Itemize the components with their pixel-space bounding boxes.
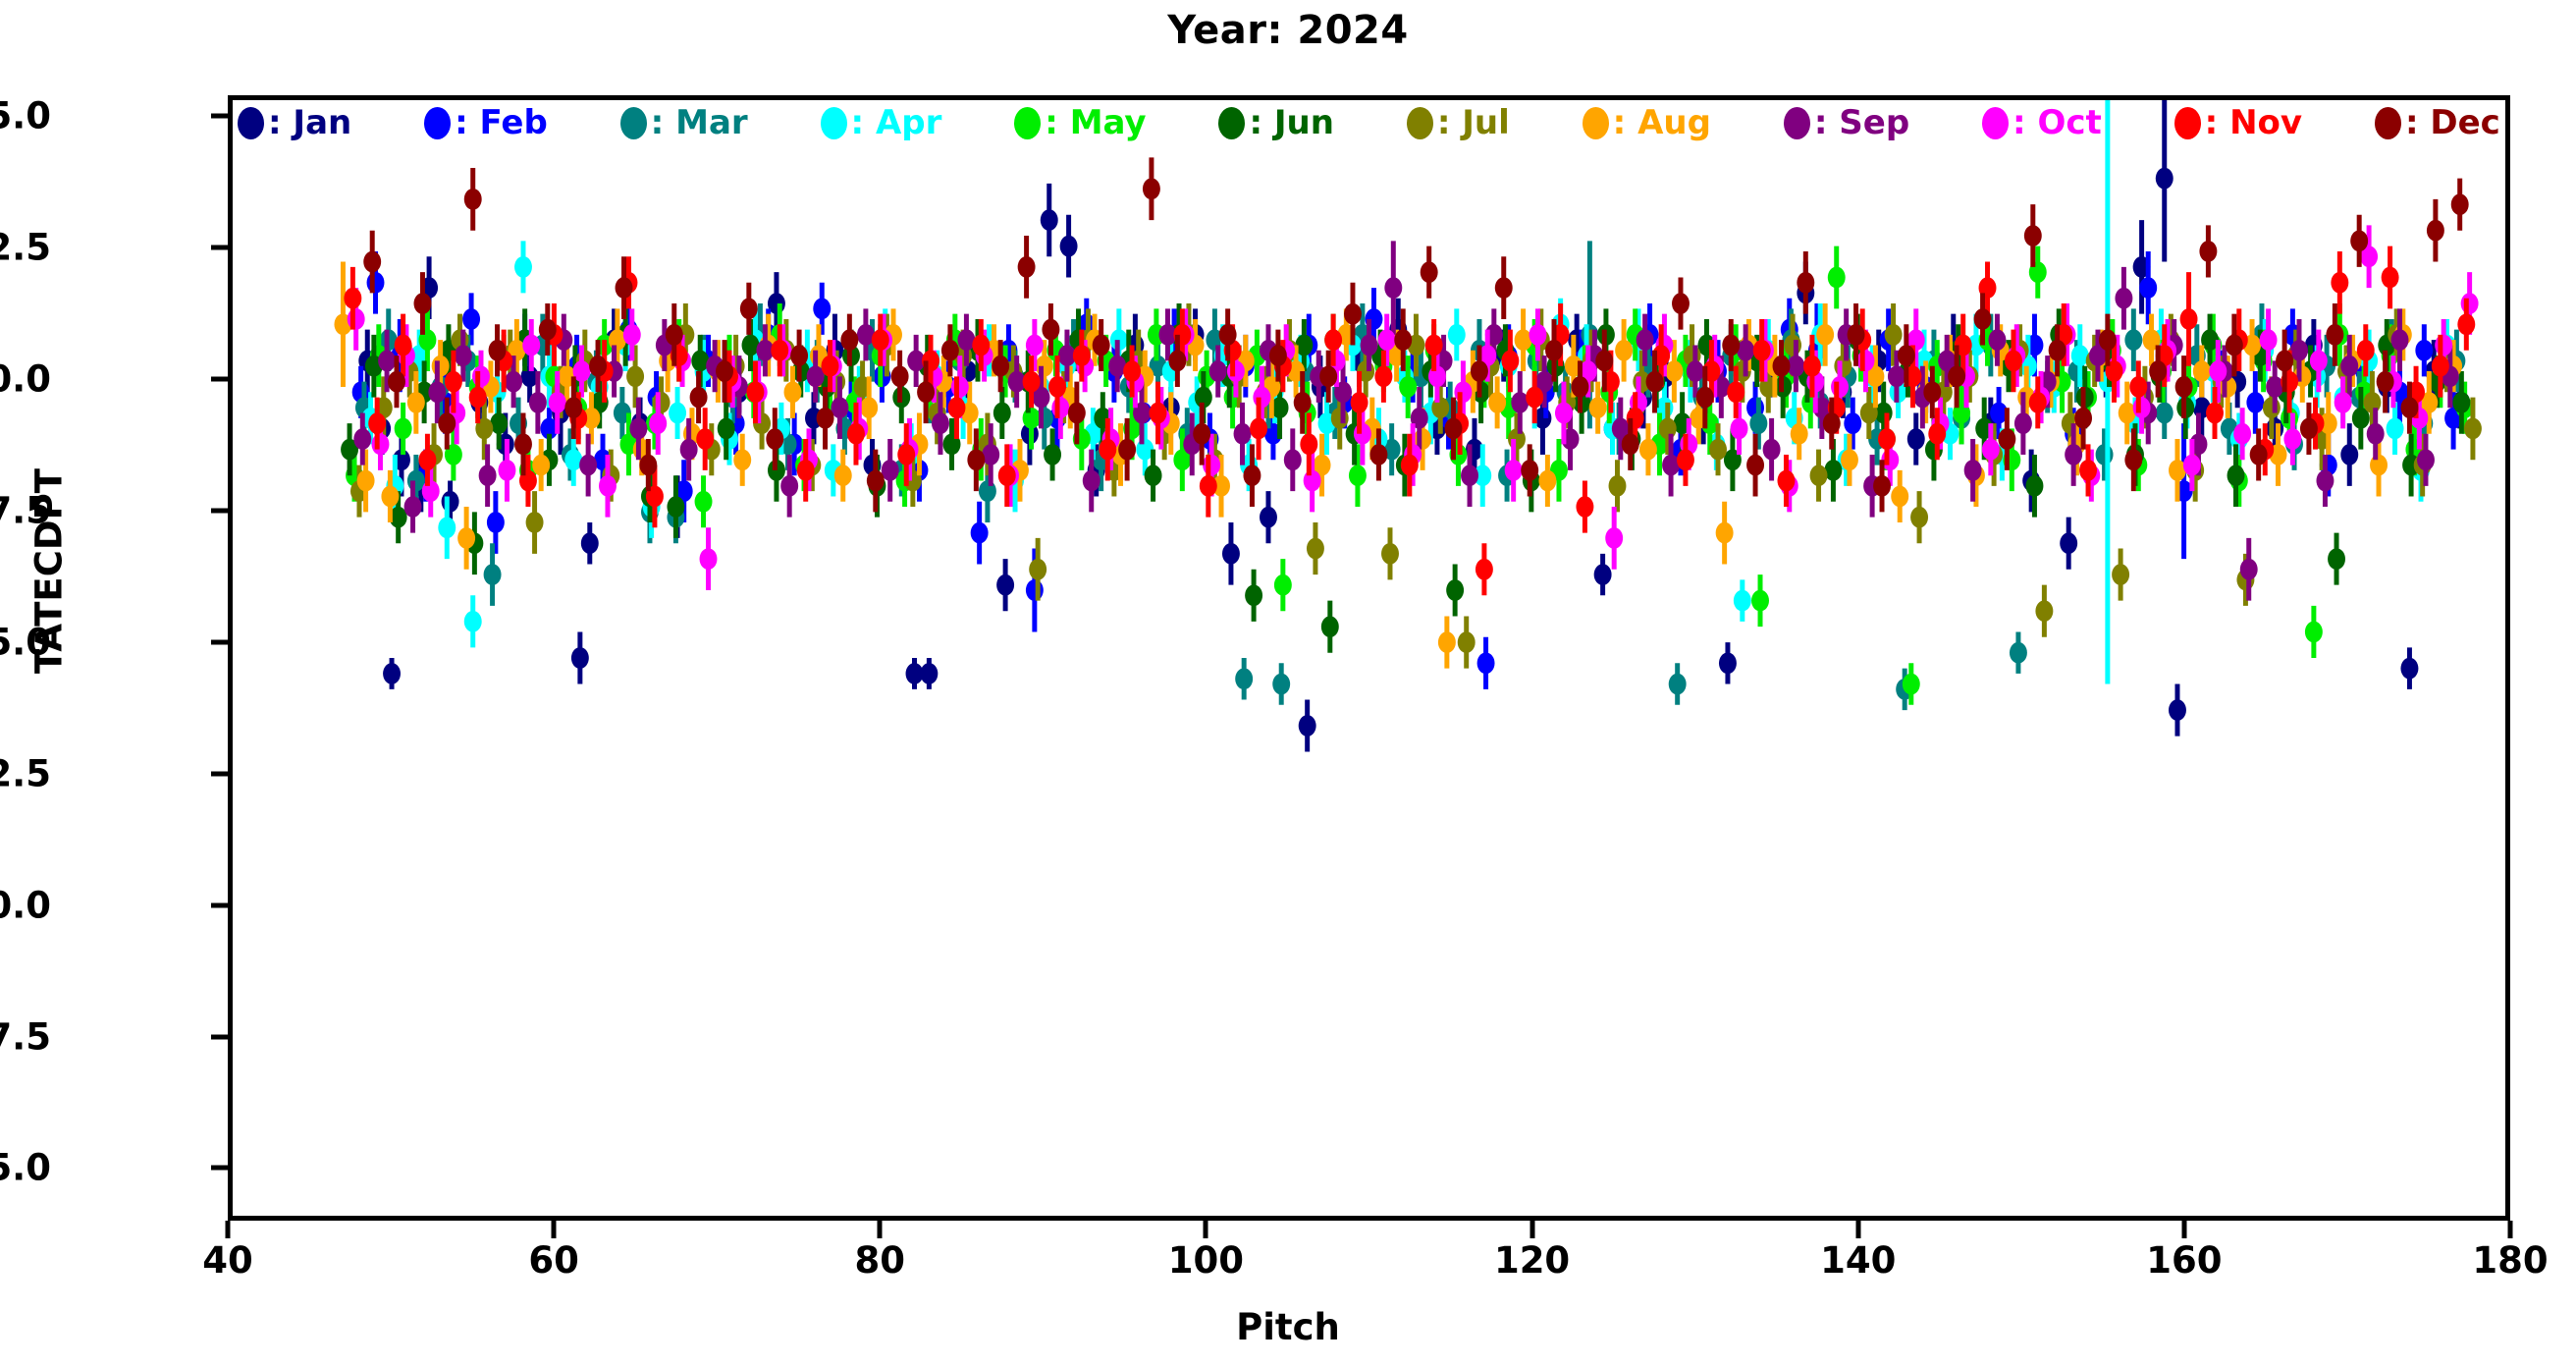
data-point: [2183, 455, 2201, 476]
y-tick-label: 307.5: [0, 490, 51, 532]
data-point: [1026, 579, 1044, 601]
data-point: [2461, 293, 2479, 314]
data-point: [1118, 439, 1136, 461]
data-point: [948, 397, 966, 418]
data-point: [1300, 433, 1317, 455]
data-point: [1665, 360, 1683, 382]
data-point: [372, 433, 390, 455]
data-point: [2049, 340, 2066, 361]
data-point: [1746, 455, 1764, 476]
data-point: [623, 324, 641, 346]
data-point: [771, 340, 788, 361]
data-point: [992, 355, 1009, 377]
data-point: [1321, 616, 1339, 637]
x-tick-mark: [2181, 1221, 2186, 1238]
data-point: [766, 428, 783, 450]
data-point: [2367, 423, 2385, 445]
data-point: [639, 455, 657, 476]
data-point: [1609, 475, 1627, 497]
data-point: [2169, 699, 2186, 721]
data-point: [1051, 397, 1069, 418]
data-point: [1923, 381, 1941, 403]
data-point: [514, 433, 532, 455]
data-point: [1431, 397, 1449, 418]
data-point: [1753, 340, 1771, 361]
data-point: [2382, 267, 2399, 289]
data-point: [464, 611, 482, 632]
y-tick-mark: [211, 1034, 228, 1039]
data-point: [1044, 444, 1061, 465]
data-point: [917, 381, 935, 403]
data-point: [1446, 579, 1464, 601]
data-point: [1026, 335, 1044, 356]
data-point: [2029, 392, 2047, 413]
data-point: [368, 412, 386, 434]
data-point: [2417, 449, 2435, 470]
data-point: [2377, 371, 2394, 393]
y-tick-label: 300.0: [0, 884, 51, 926]
data-point: [2206, 403, 2224, 424]
data-point: [2060, 532, 2077, 554]
data-point: [1399, 376, 1417, 398]
data-point: [784, 381, 802, 403]
x-tick-label: 140: [1820, 1239, 1896, 1282]
data-point: [357, 470, 375, 492]
data-point: [1394, 329, 1412, 351]
data-point: [1594, 564, 1612, 585]
data-point: [2129, 376, 2147, 398]
data-point: [1099, 439, 1116, 461]
data-point: [388, 371, 405, 393]
data-point: [872, 329, 889, 351]
data-point: [438, 412, 456, 434]
data-point: [920, 663, 938, 684]
data-point: [1200, 475, 1217, 497]
data-point: [549, 392, 566, 413]
data-point: [1501, 351, 1519, 372]
data-point: [581, 532, 599, 554]
data-point: [422, 480, 440, 502]
data-point: [455, 345, 472, 366]
data-point: [428, 381, 446, 403]
data-point: [395, 335, 412, 356]
x-tick-mark: [226, 1221, 231, 1238]
data-point: [1274, 574, 1292, 596]
data-point: [629, 418, 647, 440]
data-point: [1193, 423, 1210, 445]
data-point: [1227, 360, 1245, 382]
data-point: [1763, 439, 1781, 461]
data-point: [1622, 433, 1639, 455]
data-point: [1168, 351, 1186, 372]
y-tick-label: 312.5: [0, 227, 51, 269]
data-point: [1209, 360, 1227, 382]
data-point: [1538, 470, 1556, 492]
data-point: [564, 397, 582, 418]
y-tick-mark: [211, 902, 228, 907]
data-point: [1669, 674, 1687, 695]
data-point: [1369, 444, 1387, 465]
data-point: [2079, 460, 2097, 481]
data-point: [2310, 351, 2328, 372]
data-point: [1425, 335, 1443, 356]
data-point: [1145, 464, 1162, 486]
data-point: [1646, 371, 1664, 393]
data-point: [2357, 340, 2375, 361]
data-point: [1143, 178, 1160, 199]
data-point: [780, 475, 798, 497]
data-point: [1023, 371, 1041, 393]
data-point: [2199, 241, 2217, 262]
data-point: [1545, 340, 1563, 361]
x-tick-mark: [878, 1221, 883, 1238]
data-point: [381, 486, 399, 508]
data-point: [993, 403, 1011, 424]
y-tick-mark: [211, 771, 228, 776]
data-point: [1791, 423, 1808, 445]
data-point: [1659, 418, 1677, 440]
data-point: [1844, 412, 1861, 434]
data-point: [2240, 559, 2258, 580]
data-point: [1810, 464, 1828, 486]
x-tick-mark: [1204, 1221, 1208, 1238]
data-point: [367, 272, 385, 294]
data-point: [445, 371, 462, 393]
data-point: [1448, 324, 1466, 346]
data-point: [1488, 392, 1506, 413]
data-point: [1319, 365, 1337, 387]
data-point: [979, 480, 996, 502]
data-point: [2283, 428, 2301, 450]
data-point: [1508, 428, 1526, 450]
data-point: [1042, 319, 1059, 341]
plot-area: [228, 95, 2510, 1221]
data-point: [1857, 351, 1875, 372]
data-point: [1988, 329, 2006, 351]
data-point: [1454, 381, 1472, 403]
data-point: [2035, 600, 2053, 622]
data-point: [2005, 351, 2022, 372]
data-point: [1299, 715, 1316, 737]
data-point: [1529, 324, 1547, 346]
data-point: [2457, 313, 2475, 335]
data-point: [1219, 324, 1237, 346]
data-point: [626, 365, 644, 387]
data-point: [1461, 464, 1478, 486]
data-point: [941, 340, 959, 361]
data-point: [2260, 329, 2278, 351]
data-point: [690, 387, 708, 409]
data-point: [571, 647, 589, 669]
data-point: [1235, 668, 1253, 689]
data-point: [972, 335, 990, 356]
data-point: [897, 444, 915, 465]
data-point: [2340, 444, 2358, 465]
y-tick-mark: [211, 114, 228, 119]
data-point: [2175, 376, 2193, 398]
data-point: [834, 464, 852, 486]
data-point: [344, 288, 361, 309]
data-point: [2149, 360, 2167, 382]
data-point: [1401, 455, 1419, 476]
data-point: [479, 464, 497, 486]
data-point: [1384, 277, 1402, 299]
x-tick-label: 100: [1168, 1239, 1244, 1282]
data-point: [1471, 360, 1488, 382]
data-point: [996, 574, 1014, 596]
data-point: [2124, 329, 2142, 351]
data-point: [2415, 340, 2433, 361]
data-point: [1778, 470, 1796, 492]
data-point: [1751, 590, 1769, 612]
data-point: [489, 340, 507, 361]
data-point: [2024, 225, 2042, 246]
data-point: [1354, 423, 1371, 445]
data-point: [1304, 470, 1321, 492]
data-point: [867, 470, 885, 492]
y-axis-label: TATECDPT: [28, 424, 71, 719]
data-point: [2209, 360, 2227, 382]
y-tick-mark: [211, 246, 228, 250]
data-point: [1828, 267, 1846, 289]
y-tick-mark: [211, 509, 228, 514]
data-point: [951, 376, 969, 398]
data-point: [932, 412, 949, 434]
data-point: [464, 189, 482, 210]
data-point: [2300, 418, 2318, 440]
data-point: [2250, 444, 2268, 465]
data-point: [2246, 392, 2264, 413]
data-point: [2391, 329, 2409, 351]
data-point: [1253, 387, 1270, 409]
data-point: [2451, 193, 2469, 215]
data-point: [462, 308, 480, 330]
data-point: [498, 460, 515, 481]
data-point: [2452, 392, 2470, 413]
data-point: [2010, 642, 2027, 664]
data-point: [797, 460, 815, 481]
data-point: [1381, 543, 1399, 565]
y-tick-label: 295.0: [0, 1147, 51, 1189]
data-point: [1073, 345, 1091, 366]
data-point: [695, 491, 713, 513]
data-point: [1428, 365, 1446, 387]
y-tick-label: 305.0: [0, 621, 51, 663]
data-point: [1521, 460, 1538, 481]
data-point: [484, 564, 502, 585]
data-point: [1245, 584, 1262, 606]
data-point: [1719, 652, 1737, 674]
data-point: [2427, 220, 2444, 242]
data-point: [532, 455, 550, 476]
data-point: [1324, 329, 1342, 351]
data-point: [2227, 464, 2245, 486]
data-point: [414, 293, 432, 314]
y-tick-label: 310.0: [0, 358, 51, 401]
data-point: [378, 351, 396, 372]
data-point: [813, 298, 831, 319]
y-tick-label: 315.0: [0, 95, 51, 137]
data-point: [740, 298, 758, 319]
data-point: [1885, 324, 1903, 346]
data-point: [1907, 428, 1925, 450]
data-point: [666, 324, 683, 346]
chart-title: Year: 2024: [0, 8, 2576, 53]
data-point: [1595, 351, 1613, 372]
data-point: [1964, 460, 1982, 481]
data-point: [1727, 381, 1744, 403]
x-axis-label: Pitch: [0, 1306, 2576, 1348]
data-point: [2014, 412, 2032, 434]
data-point: [1083, 470, 1100, 492]
data-point: [1722, 335, 1740, 356]
data-point: [1734, 590, 1751, 612]
data-point: [2363, 392, 2381, 413]
data-point: [2326, 324, 2343, 346]
data-point: [353, 428, 371, 450]
data-point: [2233, 423, 2251, 445]
data-point: [2226, 335, 2243, 356]
x-tick-label: 160: [2146, 1239, 2222, 1282]
data-point: [1716, 522, 1734, 544]
data-point: [432, 355, 450, 377]
data-point: [539, 319, 557, 341]
data-point: [971, 522, 989, 544]
data-point: [1068, 403, 1086, 424]
data-point: [487, 512, 505, 533]
data-point: [1998, 428, 2015, 450]
data-point: [1374, 365, 1392, 387]
data-point: [2124, 449, 2142, 470]
data-point: [1123, 360, 1141, 382]
data-point: [1834, 355, 1851, 377]
data-point: [404, 496, 422, 518]
data-point: [2435, 335, 2452, 356]
data-point: [1458, 631, 1476, 653]
data-point: [1378, 329, 1396, 351]
data-point: [1349, 464, 1367, 486]
data-point: [1878, 428, 1896, 450]
data-point: [472, 365, 490, 387]
data-point: [1331, 408, 1349, 429]
data-point: [363, 251, 381, 273]
data-point: [579, 455, 597, 476]
data-point: [2115, 288, 2132, 309]
data-point: [667, 496, 684, 518]
data-point: [817, 408, 834, 429]
data-point: [680, 439, 698, 461]
data-point: [1048, 376, 1066, 398]
x-tick-label: 120: [1494, 1239, 1570, 1282]
data-point: [2432, 355, 2449, 377]
data-point: [2180, 308, 2198, 330]
data-point: [1982, 439, 2000, 461]
data-point: [1029, 559, 1046, 580]
x-tick-label: 180: [2472, 1239, 2548, 1282]
data-point: [1505, 460, 1523, 481]
data-point: [599, 475, 617, 497]
data-point: [2276, 351, 2293, 372]
data-point: [649, 412, 667, 434]
x-tick-mark: [552, 1221, 557, 1238]
data-point: [1260, 507, 1277, 528]
x-tick-mark: [2508, 1221, 2513, 1238]
data-point: [1555, 403, 1573, 424]
data-point: [2328, 548, 2345, 570]
data-point: [2026, 475, 2044, 497]
data-point: [1036, 355, 1053, 377]
data-point: [669, 403, 686, 424]
data-point: [2112, 564, 2129, 585]
data-point: [1672, 293, 1690, 314]
data-point: [348, 308, 365, 330]
data-point: [2096, 444, 2114, 465]
data-point: [847, 423, 865, 445]
data-point: [1639, 439, 1657, 461]
y-tick-label: 297.5: [0, 1015, 51, 1058]
data-point: [1203, 455, 1220, 476]
x-tick-mark: [1855, 1221, 1860, 1238]
data-point: [1773, 355, 1791, 377]
data-point: [1344, 303, 1362, 325]
data-point: [1709, 439, 1727, 461]
data-point: [1477, 652, 1495, 674]
data-point: [718, 418, 735, 440]
data-point: [522, 335, 540, 356]
data-point: [469, 387, 487, 409]
data-point: [860, 397, 878, 418]
data-point: [2334, 392, 2352, 413]
data-point: [1361, 335, 1378, 356]
data-point: [2065, 444, 2082, 465]
data-point: [700, 548, 718, 570]
data-point: [1023, 408, 1041, 429]
data-point: [1848, 324, 1865, 346]
data-point: [529, 392, 547, 413]
data-point: [1891, 486, 1908, 508]
data-point: [1615, 340, 1633, 361]
data-point: [1250, 418, 1267, 440]
data-point: [1797, 272, 1814, 294]
data-point: [733, 449, 751, 470]
data-point: [998, 464, 1016, 486]
data-point: [790, 345, 808, 366]
data-point: [1495, 277, 1513, 299]
data-point: [383, 663, 401, 684]
data-point: [1526, 387, 1543, 409]
data-point: [407, 392, 425, 413]
data-point: [1445, 418, 1463, 440]
data-point: [1222, 543, 1240, 565]
data-point: [746, 381, 764, 403]
data-point: [1948, 365, 1965, 387]
data-point: [1888, 365, 1905, 387]
data-point: [2099, 329, 2117, 351]
data-point: [1910, 507, 1928, 528]
data-point: [696, 428, 714, 450]
data-point: [1749, 412, 1767, 434]
data-point: [1803, 355, 1821, 377]
data-point: [2400, 397, 2418, 418]
data-point: [822, 355, 839, 377]
y-tick-mark: [211, 639, 228, 644]
data-point: [1928, 423, 1946, 445]
data-point: [1438, 631, 1456, 653]
data-point: [1589, 397, 1607, 418]
data-point: [2316, 470, 2334, 492]
data-point: [891, 365, 909, 387]
data-point: [514, 256, 532, 278]
